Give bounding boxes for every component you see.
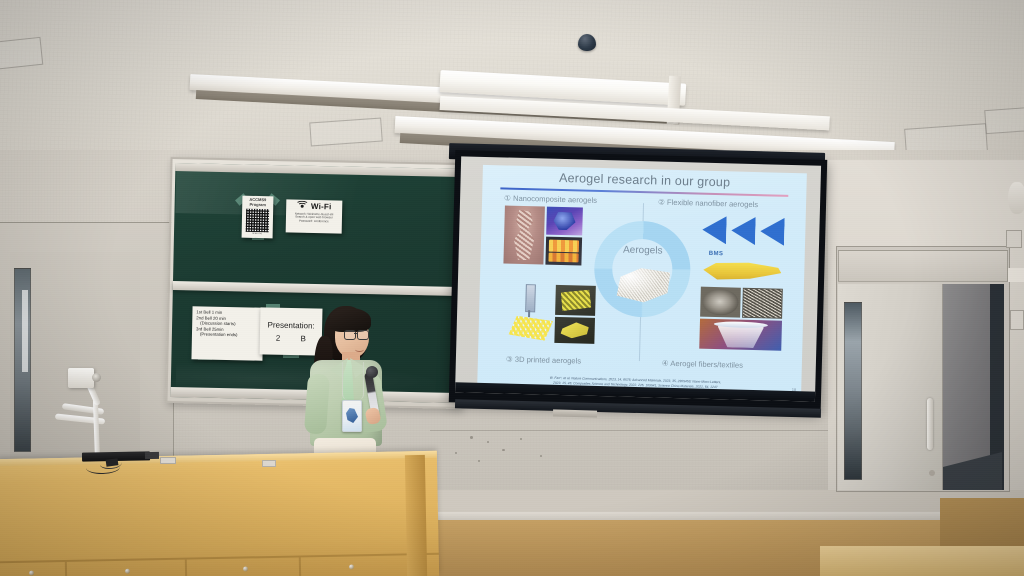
qr-sign-footer: scan me [242,231,273,235]
wall-mark [478,460,480,462]
wall-mark [502,449,505,451]
wall-outlet-plate [160,457,176,464]
document-camera-head[interactable] [68,368,94,388]
slide-image-printed-block [554,317,595,344]
wifi-info-sign: Wi-Fi Network: Welcome-Guest-Wi Search &… [286,199,343,233]
wall-speaker [1008,182,1024,214]
wifi-sign-label: Wi-Fi [311,202,332,211]
glasses-icon [344,330,370,339]
slide-image-printed-lattice [555,285,596,316]
ceiling-panel [309,118,382,147]
cabinet-knob[interactable] [349,564,354,569]
dome-security-camera-icon [578,34,596,51]
name-badge [342,400,362,432]
light-switch[interactable] [1010,310,1024,330]
slide-image-nanocomposite-sculpture [503,205,545,264]
projection-surface: Aerogel research in our group ① Nanocomp… [455,156,821,401]
presentation-slide: Aerogel research in our group ① Nanocomp… [477,165,807,395]
wall-mark [540,455,542,457]
door-handle[interactable] [927,398,933,450]
lecture-hall-photo: ACCMS9 Program scan me Wi-Fi Network: We… [0,0,1024,576]
wall-outlet-plate [262,460,276,467]
av-equipment-small[interactable] [145,452,159,459]
slide-quadrant-label-4: ④ Aerogel fibers/textiles [662,359,743,370]
camera-lens-icon [92,373,101,382]
ceiling-panel [984,106,1024,134]
podium-right-side [405,455,427,576]
slide-image-3d-printing [508,284,554,343]
qr-code-icon [246,208,269,231]
wall-seam [430,430,850,431]
cabinet-knob[interactable] [243,566,248,571]
slide-image-sem-network [742,288,783,319]
slide-image-3d-render [546,207,583,236]
podium-cabinet-seam [299,557,301,576]
qr-sign-title-line2: Program [249,201,266,206]
projection-screen: Aerogel research in our group ① Nanocomp… [449,150,827,412]
left-arm [304,373,330,434]
slide-image-fan-series [702,213,785,249]
slide-nanofiber-caption: BMS [709,251,724,257]
qr-code-sign[interactable]: ACCMS9 Program scan me [242,196,274,239]
lecture-podium [0,451,439,576]
lanyard [342,362,364,400]
wifi-icon [297,202,308,211]
cabinet-knob[interactable] [29,571,34,576]
slide-image-textile-cup [699,319,782,351]
wall-mark [520,438,522,440]
bell-line-5: (Presentation ends) [196,332,260,339]
wall-plate [1006,230,1022,248]
slide-quadrant-label-1: ① Nanocomposite aerogels [504,193,597,204]
podium-cabinet-seam [185,560,187,576]
wifi-sign-line3: Password: conference [286,219,342,224]
slide-quadrant-label-2: ② Flexible nanofiber aerogels [658,197,758,209]
right-door-window [844,302,862,480]
slide-image-sem-fiber [700,287,741,318]
wall-mark [487,441,489,443]
wall-mark [455,452,457,454]
screen-pull-tab[interactable] [553,409,597,417]
wall-mark [470,436,473,439]
cabinet-knob[interactable] [125,569,130,574]
left-door-window-glare [22,290,28,372]
slide-image-thermal [545,237,582,266]
bell-schedule-sign: 1st Bell 1 min 2nd Bell 20 min (Discussi… [191,306,263,360]
wall-sign [1008,268,1024,282]
front-row-table [820,546,1024,576]
hair-fringe [329,308,371,332]
podium-cabinet-seam [65,562,67,576]
right-door-transom [838,250,1008,282]
slide-image-flexible-aerogel [701,259,784,285]
slide-quadrant-label-3: ③ 3D printed aerogels [506,355,581,366]
door-lock-icon[interactable] [929,470,935,476]
